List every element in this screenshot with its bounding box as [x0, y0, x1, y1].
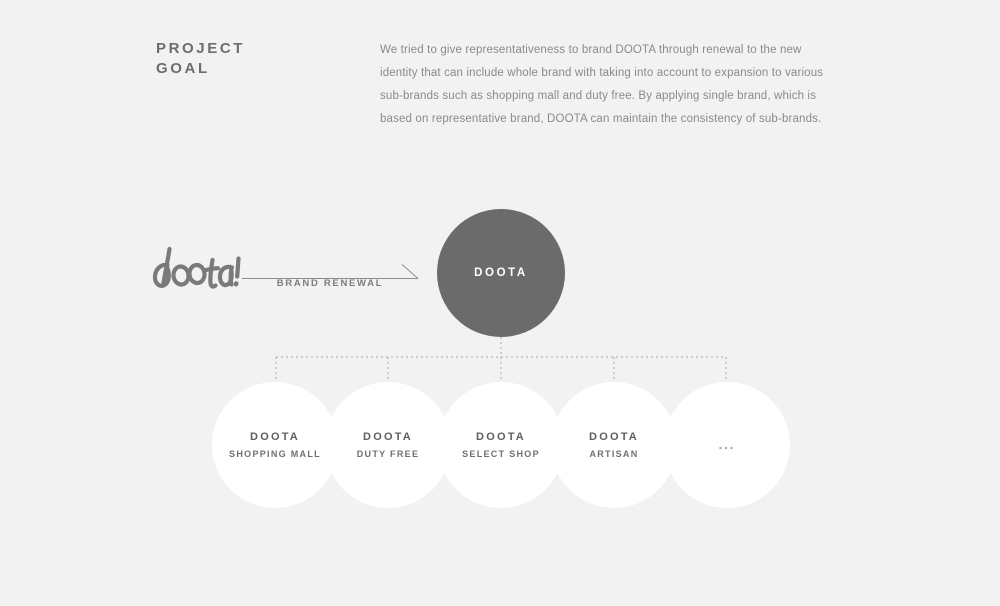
sub-node-select-shop[interactable]: DOOTA SELECT SHOP — [438, 382, 564, 508]
sub-node-duty-free[interactable]: DOOTA DUTY FREE — [325, 382, 451, 508]
sub-node-title: DOOTA — [589, 428, 639, 446]
sub-node-title: DOOTA — [363, 428, 413, 446]
sub-node-shopping-mall[interactable]: DOOTA SHOPPING MALL — [212, 382, 338, 508]
sub-node-artisan[interactable]: DOOTA ARTISAN — [551, 382, 677, 508]
sub-node-subtitle: SELECT SHOP — [462, 446, 540, 462]
sub-node-subtitle: DUTY FREE — [357, 446, 420, 462]
page-title: PROJECT GOAL — [156, 39, 245, 79]
sub-node-more[interactable]: ... — [664, 382, 790, 508]
diagram-canvas: PROJECT GOAL We tried to give representa… — [0, 0, 1000, 606]
main-node-label: DOOTA — [474, 267, 528, 279]
sub-node-title: DOOTA — [250, 428, 300, 446]
sub-node-title: DOOTA — [476, 428, 526, 446]
main-node-doota[interactable]: DOOTA — [437, 209, 565, 337]
sub-node-subtitle: SHOPPING MALL — [229, 446, 321, 462]
sub-node-subtitle: ARTISAN — [589, 446, 638, 462]
doota-logo — [150, 244, 242, 300]
intro-paragraph: We tried to give representativeness to b… — [380, 39, 830, 131]
sub-node-ellipsis: ... — [719, 440, 736, 450]
brand-renewal-label: BRAND RENEWAL — [242, 278, 418, 289]
